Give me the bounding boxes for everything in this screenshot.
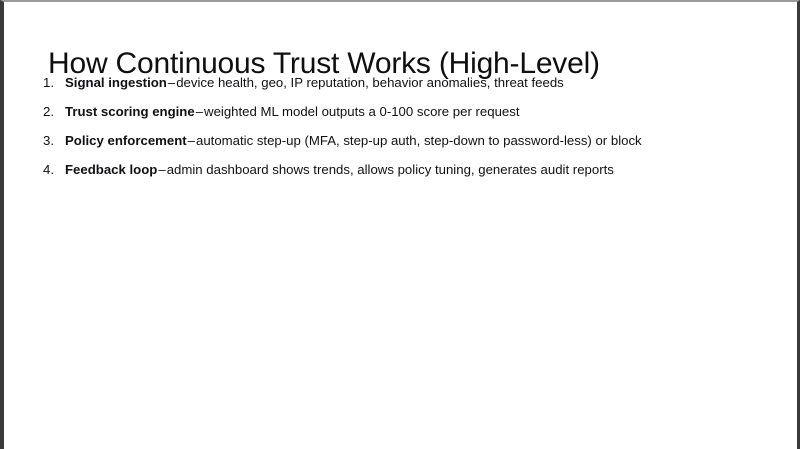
list-item-dash: –: [195, 104, 204, 119]
list-item-dash: –: [157, 162, 166, 177]
list-item-term: Feedback loop: [65, 162, 157, 177]
list-item-number: 2.: [43, 104, 65, 119]
numbered-steps-list: 1. Signal ingestion–device health, geo, …: [43, 75, 773, 191]
list-item-description: weighted ML model outputs a 0-100 score …: [204, 104, 519, 119]
list-item-body: Trust scoring engine–weighted ML model o…: [65, 104, 773, 119]
list-item-dash: –: [187, 133, 196, 148]
list-item-term: Trust scoring engine: [65, 104, 195, 119]
list-item-number: 4.: [43, 162, 65, 177]
list-item-dash: –: [167, 75, 176, 90]
list-item-description: automatic step-up (MFA, step-up auth, st…: [196, 133, 642, 148]
list-item: 4. Feedback loop–admin dashboard shows t…: [43, 162, 773, 191]
list-item: 1. Signal ingestion–device health, geo, …: [43, 75, 773, 104]
list-item-description: device health, geo, IP reputation, behav…: [176, 75, 564, 90]
presentation-slide: How Continuous Trust Works (High-Level) …: [0, 0, 800, 449]
list-item-body: Feedback loop–admin dashboard shows tren…: [65, 162, 773, 177]
list-item-number: 3.: [43, 133, 65, 148]
list-item: 3. Policy enforcement–automatic step-up …: [43, 133, 773, 162]
list-item-description: admin dashboard shows trends, allows pol…: [167, 162, 614, 177]
list-item-term: Signal ingestion: [65, 75, 167, 90]
list-item-term: Policy enforcement: [65, 133, 187, 148]
list-item-body: Policy enforcement–automatic step-up (MF…: [65, 133, 773, 148]
list-item-number: 1.: [43, 75, 65, 90]
list-item: 2. Trust scoring engine–weighted ML mode…: [43, 104, 773, 133]
list-item-body: Signal ingestion–device health, geo, IP …: [65, 75, 773, 90]
slide-content-area: How Continuous Trust Works (High-Level) …: [4, 2, 797, 449]
